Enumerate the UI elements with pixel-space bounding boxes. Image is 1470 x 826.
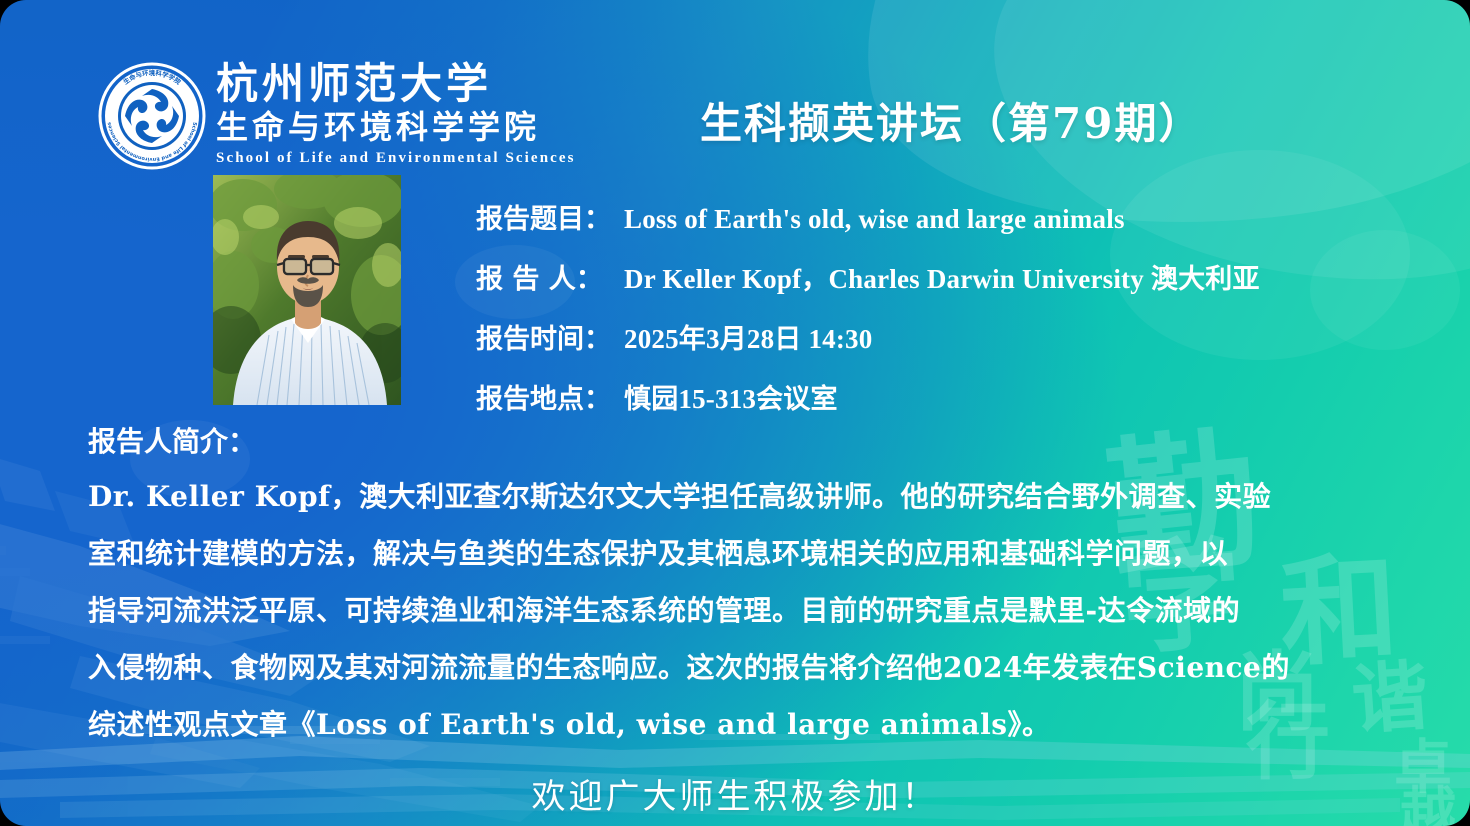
info-row-topic: 报告题目： Loss of Earth's old, wise and larg… [476,197,1376,236]
info-label-time: 报告时间： [476,317,624,356]
poster-header: 生命与环境科学学院 School of Life and Environment… [0,0,1470,170]
university-name-cn: 杭州师范大学 [216,62,616,106]
poster-canvas: 勤 学 和 尚 行 谐 卓 越 [0,0,1470,826]
footer-invitation-text: 欢迎广大师生积极参加！ [0,769,1470,818]
portrait-illustration [213,175,401,405]
bio-line: 指导河流洪泛平原、可持续渔业和海洋生态系统的管理。目前的研究重点是默里-达令流域… [88,589,1388,629]
bio-heading: 报告人简介： [88,420,1388,460]
info-row-location: 报告地点： 慎园15-313会议室 [476,377,1376,416]
info-value-topic: Loss of Earth's old, wise and large anim… [624,204,1125,235]
info-row-time: 报告时间： 2025年3月28日 14:30 [476,317,1376,356]
bio-line: Dr. Keller Kopf，澳大利亚查尔斯达尔文大学担任高级讲师。他的研究结… [88,475,1388,515]
page-title: 生科撷英讲坛（第79期） [700,90,1202,151]
event-info-block: 报告题目： Loss of Earth's old, wise and larg… [476,197,1376,437]
bio-line: 入侵物种、食物网及其对河流流量的生态响应。这次的报告将介绍他2024年发表在Sc… [88,646,1388,686]
info-label-speaker: 报 告 人： [476,257,624,296]
info-value-speaker: Dr Keller Kopf，Charles Darwin University… [624,257,1260,296]
speaker-bio-block: 报告人简介： Dr. Keller Kopf，澳大利亚查尔斯达尔文大学担任高级讲… [88,420,1388,760]
info-value-location: 慎园15-313会议室 [624,377,838,416]
info-value-time: 2025年3月28日 14:30 [624,317,872,356]
info-label-topic: 报告题目： [476,197,624,236]
bio-line: 综述性观点文章《Loss of Earth's old, wise and la… [88,703,1388,743]
college-name-en: School of Life and Environmental Science… [216,150,616,167]
speaker-portrait-photo [213,175,401,405]
college-name-cn: 生命与环境科学学院 [216,109,616,145]
info-label-location: 报告地点： [476,377,624,416]
bio-line: 室和统计建模的方法，解决与鱼类的生态保护及其栖息环境相关的应用和基础科学问题，以 [88,532,1388,572]
school-name-block: 杭州师范大学 生命与环境科学学院 School of Life and Envi… [216,62,616,167]
school-circular-emblem-icon: 生命与环境科学学院 School of Life and Environment… [98,62,206,170]
info-row-speaker: 报 告 人： Dr Keller Kopf，Charles Darwin Uni… [476,257,1376,296]
